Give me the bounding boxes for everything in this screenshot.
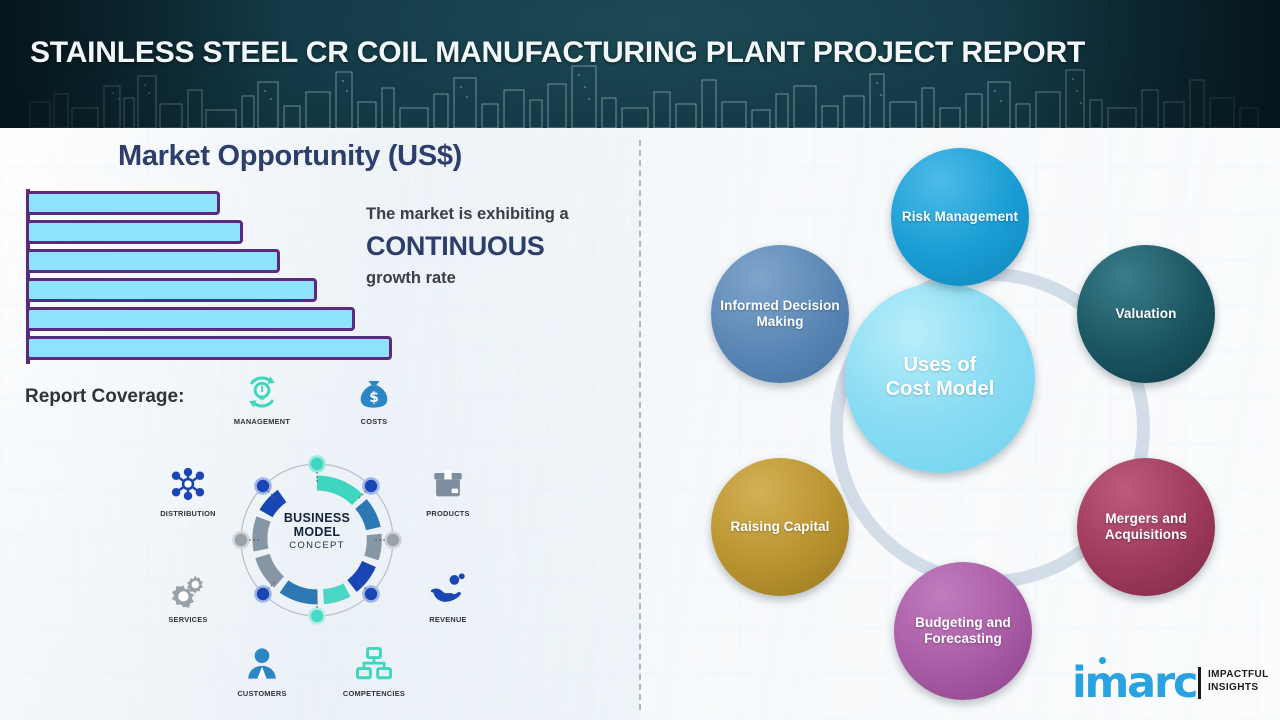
coverage-label-services: SERVICES [145,615,231,624]
hand-coins-icon [425,568,471,612]
bm-line-2: MODEL [232,525,402,539]
node-label-risk-management: Risk Management [902,209,1018,225]
network-nodes-icon [165,462,211,506]
package-box-icon [425,462,471,506]
bar-3 [26,249,280,273]
coverage-label-customers: CUSTOMERS [219,689,305,698]
page-title: STAINLESS STEEL CR COIL MANUFACTURING PL… [30,36,1085,70]
bar-2 [26,220,243,244]
center-label-line-2: Cost Model [886,378,995,402]
logo-wordmark: imarc [1072,658,1196,708]
node-label-raising-capital: Raising Capital [730,519,829,535]
business-model-wheel: BUSINESS MODEL CONCEPT [232,455,402,625]
coverage-item-competencies: COMPETENCIES [331,642,417,698]
coverage-item-customers: CUSTOMERS [219,642,305,698]
org-chart-icon [351,642,397,686]
business-model-caption: BUSINESS MODEL CONCEPT [232,511,402,552]
center-label-line-1: Uses of [886,354,995,378]
node-valuation[interactable]: Valuation [1077,245,1215,383]
coverage-label-revenue: REVENUE [405,615,491,624]
logo-tagline: IMPACTFUL INSIGHTS [1208,669,1269,694]
recycle-lightbulb-icon [239,370,285,414]
logo-dot-icon [1099,657,1106,664]
coverage-label-management: MANAGEMENT [219,417,305,426]
node-informed-decision-making[interactable]: Informed Decision Making [711,245,849,383]
node-raising-capital[interactable]: Raising Capital [711,458,849,596]
node-mergers-and-acquisitions[interactable]: Mergers and Acquisitions [1077,458,1215,596]
coverage-label-costs: COSTS [331,417,417,426]
growth-statement: The market is exhibiting a CONTINUOUS gr… [366,205,636,288]
bm-line-3: CONCEPT [232,541,402,552]
logo-tagline-line-1: IMPACTFUL [1208,669,1269,682]
coverage-label-competencies: COMPETENCIES [331,689,417,698]
svg-text:$: $ [369,390,379,406]
person-icon [239,642,285,686]
node-risk-management[interactable]: Risk Management [891,148,1029,286]
bar-5 [26,307,355,331]
statement-line-3: growth rate [366,269,636,288]
coverage-item-products: PRODUCTS [405,462,491,518]
page-header: STAINLESS STEEL CR COIL MANUFACTURING PL… [0,0,1280,128]
node-label-informed-decision-making: Informed Decision Making [711,298,849,330]
coverage-item-management: MANAGEMENT [219,370,305,426]
coverage-label-distribution: DISTRIBUTION [145,509,231,518]
logo-tagline-line-2: INSIGHTS [1208,682,1269,695]
coverage-label-products: PRODUCTS [405,509,491,518]
coverage-item-revenue: REVENUE [405,568,491,624]
money-bag-icon: $ [351,370,397,414]
node-label-budgeting-and-forecasting: Budgeting and Forecasting [894,615,1032,647]
bar-6 [26,336,392,360]
coverage-item-distribution: DISTRIBUTION [145,462,231,518]
bar-4 [26,278,317,302]
market-opportunity-title: Market Opportunity (US$) [118,140,462,173]
node-label-valuation: Valuation [1116,306,1177,322]
node-label-mergers-and-acquisitions: Mergers and Acquisitions [1077,511,1215,543]
market-opportunity-bar-chart [26,189,406,364]
gears-icon [165,568,211,612]
center-node-uses-of-cost-model: Uses of Cost Model [845,283,1035,473]
uses-of-cost-model-diagram: Uses of Cost Model Risk Management Valua… [640,128,1280,720]
logo-separator [1198,667,1201,699]
node-budgeting-and-forecasting[interactable]: Budgeting and Forecasting [894,562,1032,700]
statement-emphasis: CONTINUOUS [366,232,636,260]
bm-line-1: BUSINESS [232,511,402,525]
coverage-item-costs: $ COSTS [331,370,417,426]
bar-1 [26,191,220,215]
coverage-item-services: SERVICES [145,568,231,624]
statement-line-1: The market is exhibiting a [366,205,636,225]
imarc-logo[interactable]: imarc IMPACTFUL INSIGHTS [1072,655,1272,707]
